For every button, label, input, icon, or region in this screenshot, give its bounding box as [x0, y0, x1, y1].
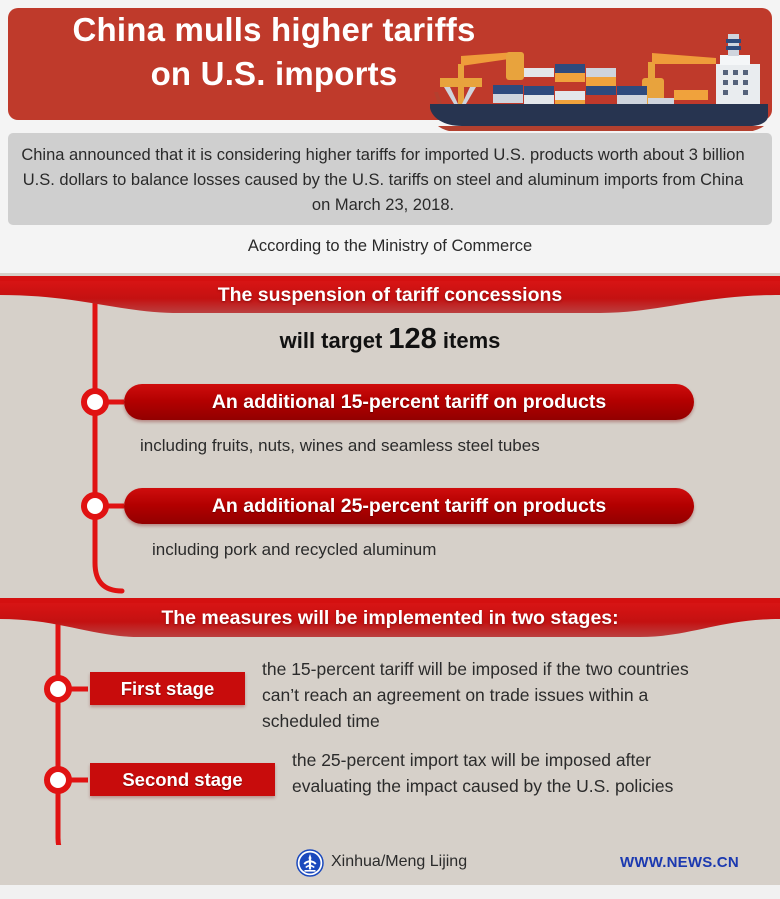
target-items-line: will target 128 items — [0, 323, 780, 356]
section-two-ribbon: The measures will be implemented in two … — [0, 595, 780, 641]
tariff-pill-25[interactable]: An additional 25-percent tariff on produ… — [124, 488, 694, 524]
tariff-pill-25-label: An additional 25-percent tariff on produ… — [124, 488, 694, 524]
first-stage-tag[interactable]: First stage — [90, 672, 245, 705]
second-stage-tag[interactable]: Second stage — [90, 763, 275, 796]
target-number: 128 — [388, 323, 436, 355]
body-zone: The suspension of tariff concessions wil… — [0, 273, 780, 854]
target-prefix: will target — [280, 328, 389, 353]
tariff-detail-15: including fruits, nuts, wines and seamle… — [140, 433, 760, 459]
first-stage-tag-label: First stage — [90, 672, 245, 705]
attribution-line: According to the Ministry of Commerce — [0, 237, 780, 256]
footer-strip — [0, 885, 780, 899]
summary-zone: China announced that it is considering h… — [0, 131, 780, 273]
first-stage-description: the 15-percent tariff will be imposed if… — [262, 656, 728, 734]
credit-author: Xinhua/Meng Lijing — [331, 853, 467, 871]
tariff-pill-15-label: An additional 15-percent tariff on produ… — [124, 384, 694, 420]
credit-row: Xinhua/Meng Lijing WWW.NEWS.CN — [0, 845, 780, 885]
page-title: China mulls higher tariffs on U.S. impor… — [14, 8, 534, 96]
site-url[interactable]: WWW.NEWS.CN — [620, 854, 739, 871]
section-one-ribbon: The suspension of tariff concessions — [0, 273, 780, 319]
tariff-pill-15[interactable]: An additional 15-percent tariff on produ… — [124, 384, 694, 420]
xinhua-logo-icon — [296, 849, 324, 877]
infographic-root: China mulls higher tariffs on U.S. impor… — [0, 0, 780, 899]
tariff-detail-25: including pork and recycled aluminum — [152, 537, 772, 563]
second-stage-description: the 25-percent import tax will be impose… — [292, 747, 732, 799]
summary-text: China announced that it is considering h… — [20, 143, 746, 218]
header-zone: China mulls higher tariffs on U.S. impor… — [0, 0, 780, 131]
section-one-ribbon-label: The suspension of tariff concessions — [0, 280, 780, 310]
second-stage-tag-label: Second stage — [90, 763, 275, 796]
target-suffix: items — [437, 328, 501, 353]
section-two-ribbon-label: The measures will be implemented in two … — [0, 603, 780, 633]
